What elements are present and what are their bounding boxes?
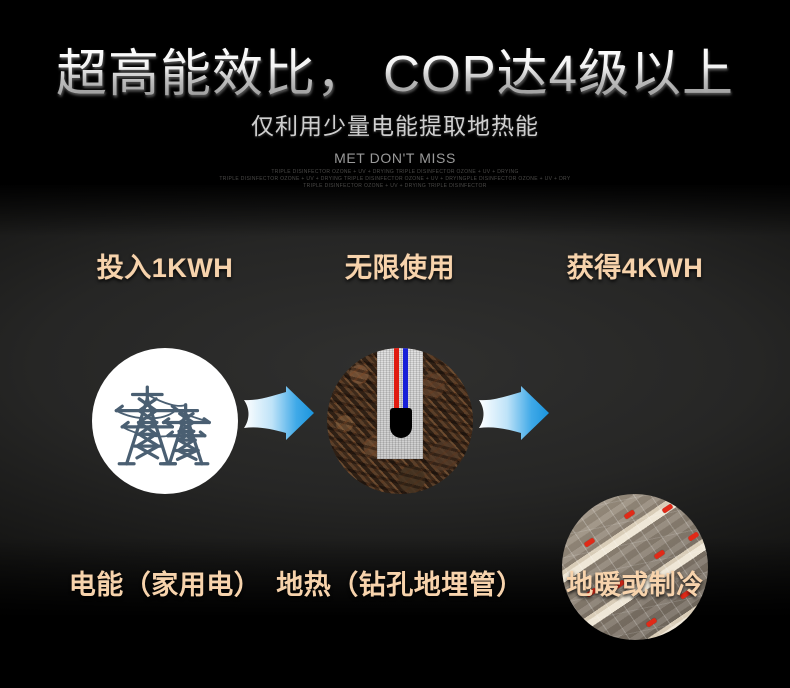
return-pipe-blue (403, 348, 408, 415)
pipe-clip-icon (624, 509, 636, 519)
pipe-clip-icon (688, 531, 700, 541)
step-images-row (0, 348, 790, 496)
step-image-geothermal (327, 348, 473, 494)
step-headings-row: 投入1KWH 无限使用 获得4KWH (0, 246, 790, 288)
power-transmission-tower-icon (106, 371, 224, 471)
eyebrow-text: MET DON'T MISS (0, 150, 790, 166)
micro-text-line: TRIPLE DISINFECTOR OZONE + UV + DRYING T… (0, 183, 790, 190)
flow-arrow-1 (242, 386, 316, 442)
header-block: 超高能效比， COP达4级以上 仅利用少量电能提取地热能 MET DON'T M… (0, 46, 790, 190)
micro-text-block: TRIPLE DISINFECTOR OZONE + UV + DRYING T… (0, 169, 790, 190)
micro-text-line: TRIPLE DISINFECTOR OZONE + UV + DRYING T… (0, 176, 790, 183)
supply-pipe-red (394, 348, 399, 415)
step-captions-row: 电能（家用电） 地热（钻孔地埋管） 地暖或制冷 (0, 563, 790, 603)
step-heading-input: 投入1KWH (45, 246, 285, 285)
step-heading-output: 获得4KWH (515, 246, 755, 285)
geothermal-borehole-icon (377, 348, 423, 459)
step-image-electricity (92, 348, 238, 494)
pipe-clip-icon (654, 549, 666, 559)
pipe-clip-icon (662, 503, 674, 513)
page-title: 超高能效比， COP达4级以上 (0, 46, 790, 101)
step-caption-electricity: 电能（家用电） (30, 563, 300, 602)
step-caption-geothermal: 地热（钻孔地埋管） (265, 563, 535, 602)
page-subtitle: 仅利用少量电能提取地热能 (0, 107, 790, 141)
promo-poster: 超高能效比， COP达4级以上 仅利用少量电能提取地热能 MET DON'T M… (0, 0, 790, 688)
micro-text-line: TRIPLE DISINFECTOR OZONE + UV + DRYING T… (0, 169, 790, 176)
pipe-u-bend (390, 408, 412, 438)
pipe-clip-icon (646, 617, 658, 627)
pipe-clip-icon (584, 537, 596, 547)
step-heading-source: 无限使用 (280, 246, 520, 285)
flow-arrow-2 (477, 386, 551, 442)
step-caption-output: 地暖或制冷 (500, 563, 770, 602)
